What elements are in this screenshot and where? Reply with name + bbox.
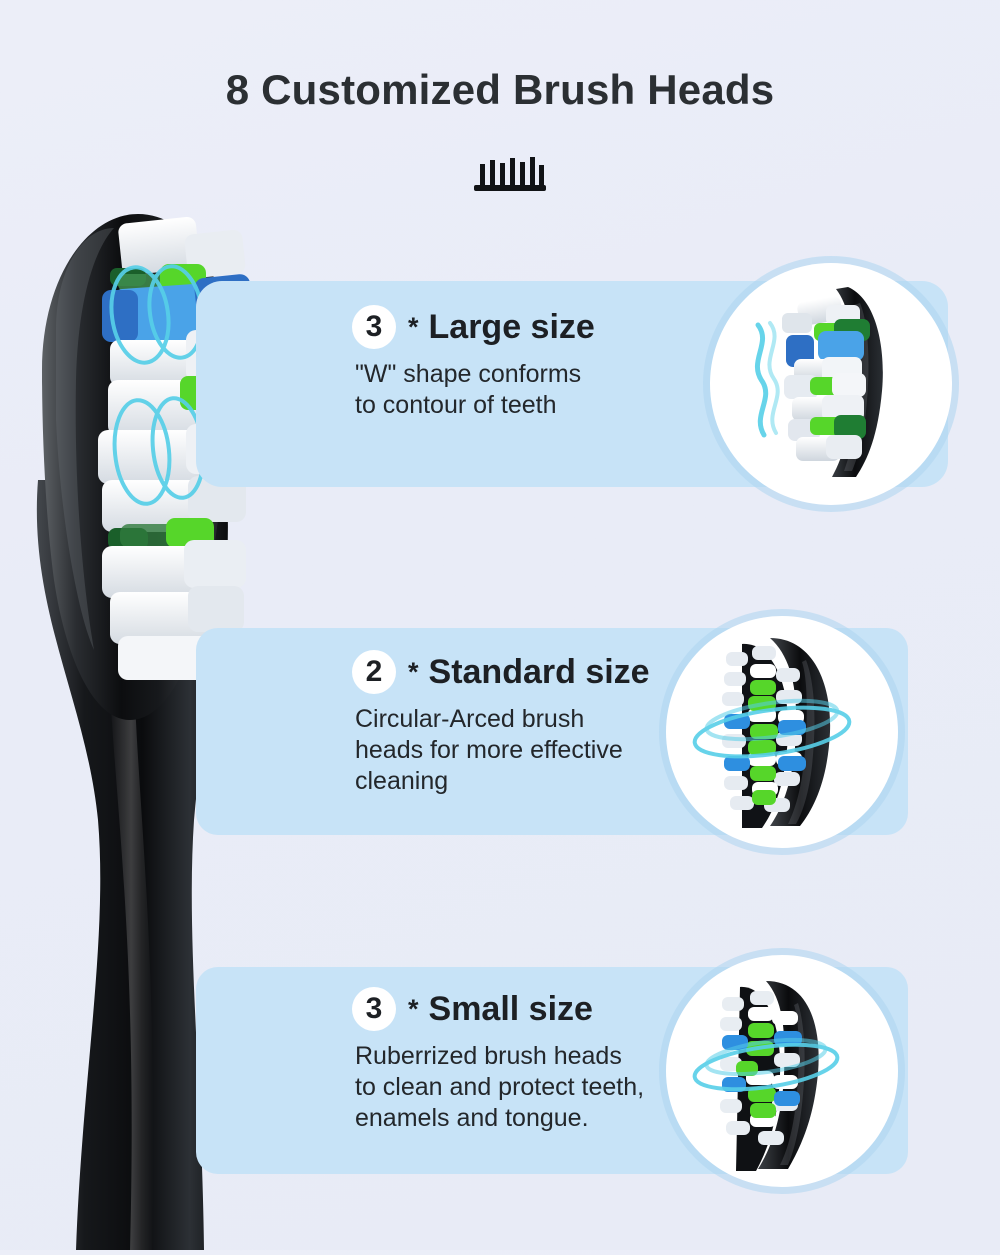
feature-heading-row: 2 * Standard size (352, 650, 650, 694)
count-badge: 3 (352, 987, 396, 1031)
brush-head-standard-thumbnail (666, 616, 898, 848)
separator-asterisk: * (408, 659, 419, 686)
feature-description: "W" shape conforms to contour of teeth (355, 359, 581, 421)
page-title: 8 Customized Brush Heads (0, 66, 1000, 114)
feature-card-large[interactable]: 3 * Large size "W" shape conforms to con… (196, 281, 948, 487)
count-badge: 2 (352, 650, 396, 694)
separator-asterisk: * (408, 996, 419, 1023)
feature-title: Small size (429, 990, 593, 1029)
brush-bristles-icon (470, 152, 550, 194)
count-badge: 3 (352, 305, 396, 349)
feature-heading-row: 3 * Large size (352, 305, 595, 349)
feature-description: Circular-Arced brush heads for more effe… (355, 704, 623, 797)
brush-head-small-thumbnail (666, 955, 898, 1187)
feature-card-standard[interactable]: 2 * Standard size Circular-Arced brush h… (196, 628, 908, 835)
feature-title: Large size (429, 308, 595, 347)
feature-card-small[interactable]: 3 * Small size Ruberrized brush heads to… (196, 967, 908, 1174)
feature-heading-row: 3 * Small size (352, 987, 593, 1031)
brush-head-large-thumbnail (710, 263, 952, 505)
infographic-canvas: 8 Customized Brush Heads (0, 0, 1000, 1250)
separator-asterisk: * (408, 314, 419, 341)
feature-description: Ruberrized brush heads to clean and prot… (355, 1041, 644, 1134)
feature-title: Standard size (429, 653, 650, 692)
